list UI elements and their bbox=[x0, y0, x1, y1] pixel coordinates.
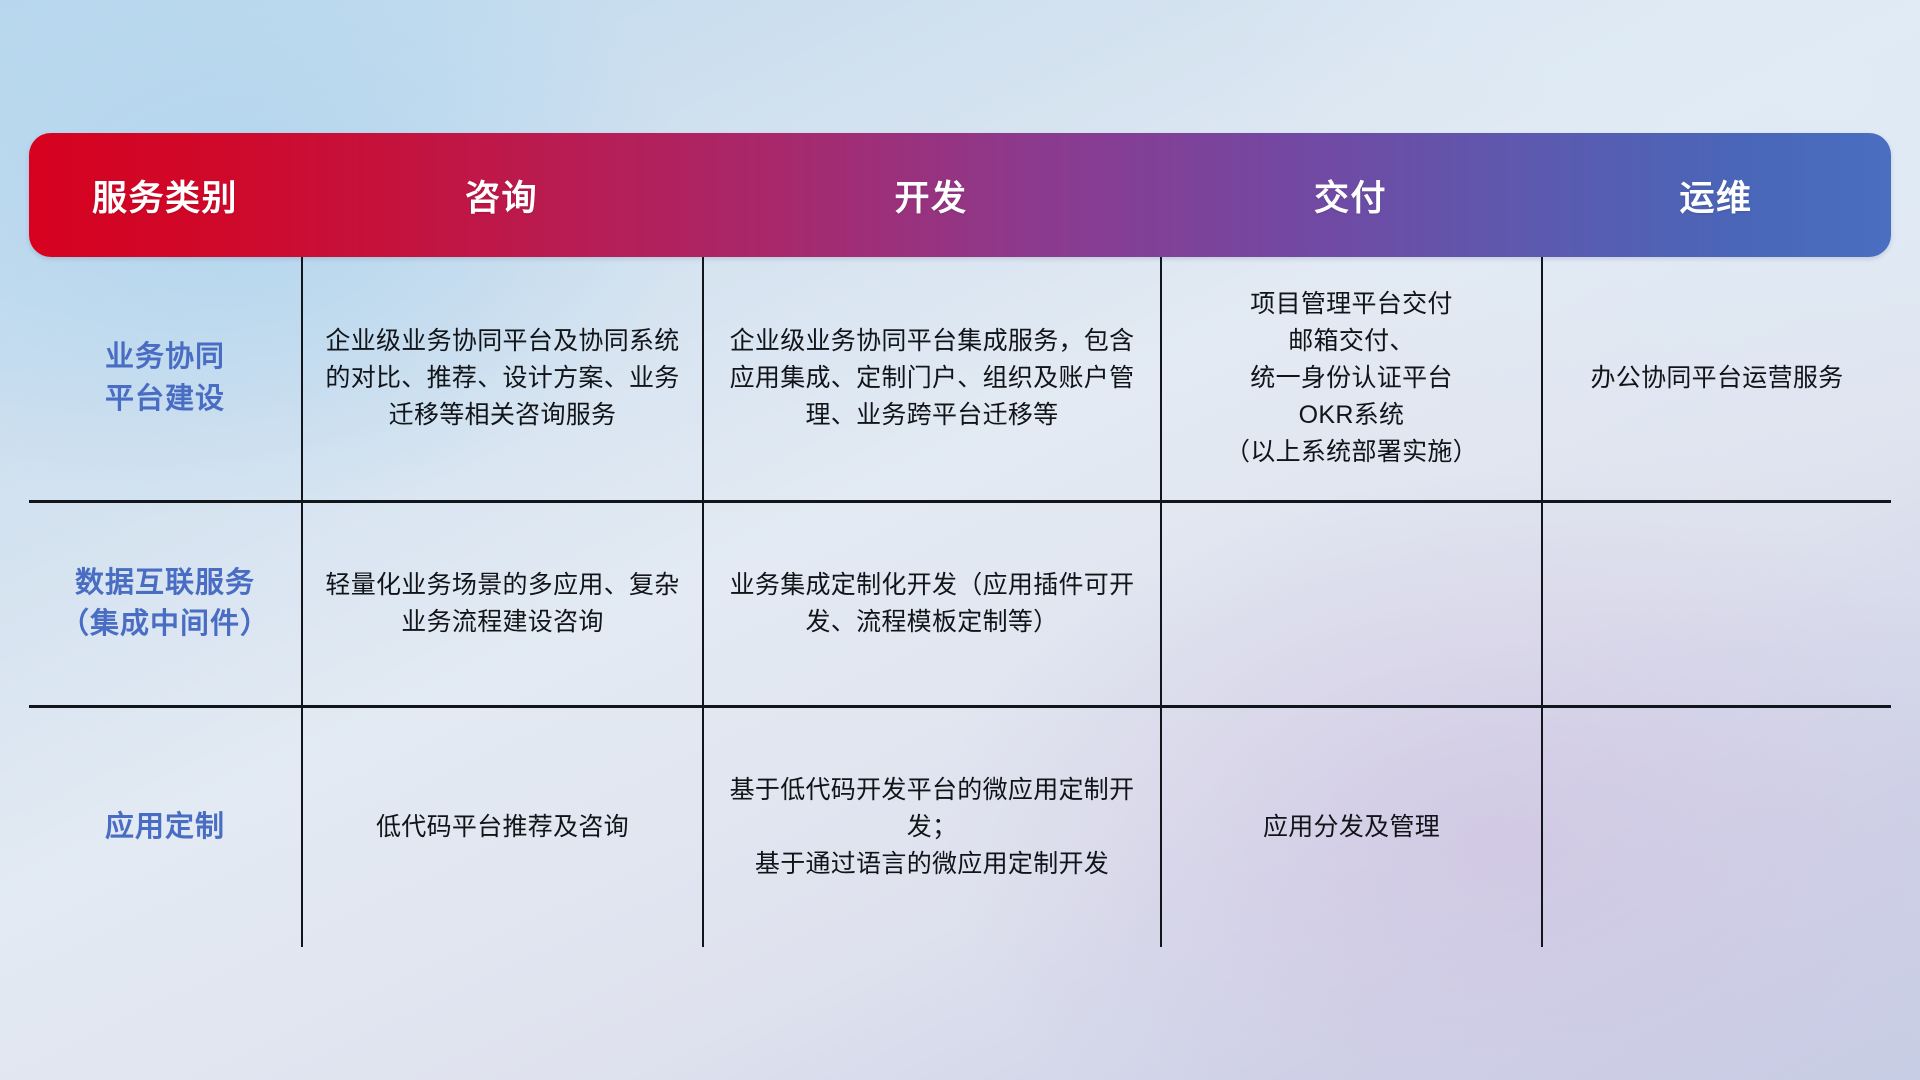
row-category-label: 应用定制 bbox=[105, 807, 225, 848]
cell-text: 企业级业务协同平台及协同系统的对比、推荐、设计方案、业务迁移等相关咨询服务 bbox=[317, 323, 688, 434]
table-row: 数据互联服务（集成中间件） 轻量化业务场景的多应用、复杂业务流程建设咨询 业务集… bbox=[29, 500, 1891, 705]
cell-text: 应用分发及管理 bbox=[1263, 809, 1440, 846]
column-header-consulting: 咨询 bbox=[301, 133, 702, 257]
cell-text: 项目管理平台交付邮箱交付、统一身份认证平台OKR系统（以上系统部署实施） bbox=[1225, 286, 1478, 471]
cell-development: 业务集成定制化开发（应用插件可开发、流程模板定制等） bbox=[702, 503, 1160, 705]
slide-canvas: 服务类别 咨询 开发 交付 运维 业务协同平台建设 企业级业务协同平台及协同系统… bbox=[0, 0, 1920, 1080]
cell-operations bbox=[1541, 708, 1891, 947]
table-row: 业务协同平台建设 企业级业务协同平台及协同系统的对比、推荐、设计方案、业务迁移等… bbox=[29, 257, 1891, 500]
cell-delivery bbox=[1160, 503, 1541, 705]
cell-delivery: 应用分发及管理 bbox=[1160, 708, 1541, 947]
cell-operations bbox=[1541, 503, 1891, 705]
column-header-development: 开发 bbox=[702, 133, 1160, 257]
table-header-row: 服务类别 咨询 开发 交付 运维 bbox=[29, 133, 1891, 257]
cell-text: 业务集成定制化开发（应用插件可开发、流程模板定制等） bbox=[718, 567, 1146, 641]
service-matrix-table: 服务类别 咨询 开发 交付 运维 业务协同平台建设 企业级业务协同平台及协同系统… bbox=[29, 133, 1891, 947]
row-category-cell: 数据互联服务（集成中间件） bbox=[29, 503, 301, 705]
cell-development: 基于低代码开发平台的微应用定制开发；基于通过语言的微应用定制开发 bbox=[702, 708, 1160, 947]
cell-text: 办公协同平台运营服务 bbox=[1590, 360, 1843, 397]
cell-text: 基于低代码开发平台的微应用定制开发；基于通过语言的微应用定制开发 bbox=[718, 772, 1146, 883]
table-row: 应用定制 低代码平台推荐及咨询 基于低代码开发平台的微应用定制开发；基于通过语言… bbox=[29, 705, 1891, 947]
cell-consulting: 轻量化业务场景的多应用、复杂业务流程建设咨询 bbox=[301, 503, 702, 705]
column-header-operations: 运维 bbox=[1541, 133, 1891, 257]
cell-consulting: 企业级业务协同平台及协同系统的对比、推荐、设计方案、业务迁移等相关咨询服务 bbox=[301, 257, 702, 500]
cell-consulting: 低代码平台推荐及咨询 bbox=[301, 708, 702, 947]
cell-text: 轻量化业务场景的多应用、复杂业务流程建设咨询 bbox=[317, 567, 688, 641]
column-header-category: 服务类别 bbox=[29, 133, 301, 257]
table-body: 业务协同平台建设 企业级业务协同平台及协同系统的对比、推荐、设计方案、业务迁移等… bbox=[29, 257, 1891, 947]
cell-delivery: 项目管理平台交付邮箱交付、统一身份认证平台OKR系统（以上系统部署实施） bbox=[1160, 257, 1541, 500]
row-category-cell: 业务协同平台建设 bbox=[29, 257, 301, 500]
row-category-cell: 应用定制 bbox=[29, 708, 301, 947]
cell-operations: 办公协同平台运营服务 bbox=[1541, 257, 1891, 500]
cell-text: 企业级业务协同平台集成服务，包含应用集成、定制门户、组织及账户管理、业务跨平台迁… bbox=[718, 323, 1146, 434]
cell-development: 企业级业务协同平台集成服务，包含应用集成、定制门户、组织及账户管理、业务跨平台迁… bbox=[702, 257, 1160, 500]
row-category-label: 数据互联服务（集成中间件） bbox=[60, 563, 270, 645]
cell-text: 低代码平台推荐及咨询 bbox=[376, 809, 629, 846]
row-category-label: 业务协同平台建设 bbox=[105, 337, 225, 419]
column-header-delivery: 交付 bbox=[1160, 133, 1541, 257]
